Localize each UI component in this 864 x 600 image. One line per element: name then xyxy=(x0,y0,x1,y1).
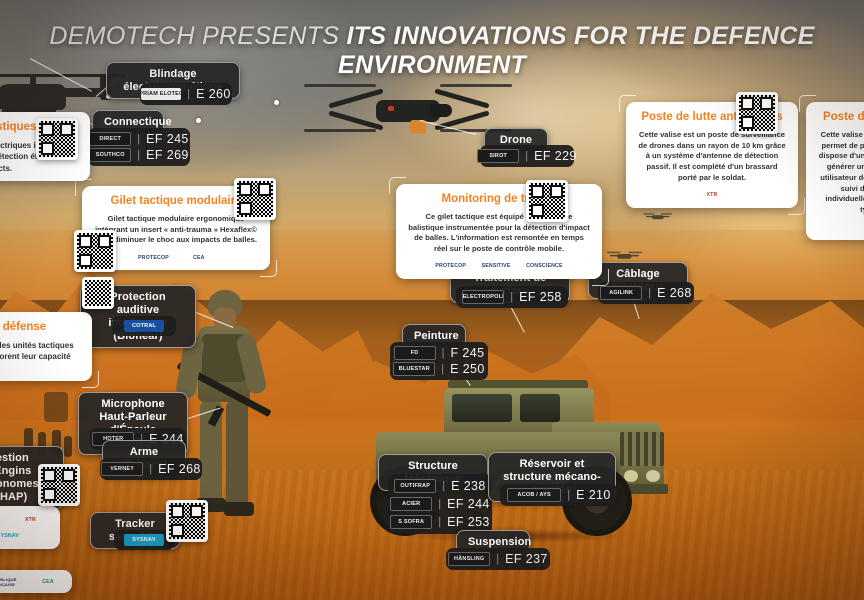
partner-logo: RÉPUBLIQUE FRANÇAISE xyxy=(0,576,21,587)
partner-logo: Agilink xyxy=(600,286,642,300)
separator: | xyxy=(525,150,528,162)
partner-logo: S SOFRA xyxy=(390,515,432,529)
qr-code[interactable] xyxy=(234,178,276,220)
reference-code: EF 268 xyxy=(158,462,201,476)
qr-code[interactable] xyxy=(38,464,80,506)
chip-row: FD | F 245 xyxy=(398,346,480,360)
partner-logo: priam elotec xyxy=(141,88,181,100)
separator: | xyxy=(441,363,444,375)
partner-logo: VERNEY xyxy=(101,462,143,476)
chip-row: SIROT | EF 229 xyxy=(488,149,566,163)
separator: | xyxy=(567,489,570,501)
partner-logo: bpi xyxy=(0,514,4,525)
chip-drone[interactable]: SIROT | EF 229 xyxy=(480,145,574,167)
card-innovations-defense[interactable]: Innovations défense L'IoT et l'IA pour l… xyxy=(0,312,92,381)
reference-code: EF 269 xyxy=(146,148,189,162)
reference-code: E 268 xyxy=(657,286,692,300)
footer-logos: RÉPUBLIQUE FRANÇAISE CEA xyxy=(0,576,66,587)
chip-connectique[interactable]: DIRECT | EF 245 SOUTHCO | EF 269 xyxy=(88,128,190,166)
reference-code: E 260 xyxy=(196,87,231,101)
infographic-poster: DEMOTECH PRESENTS ITS INNOVATIONS FOR TH… xyxy=(0,0,864,600)
chip-row: S SOFRA | EF 253 xyxy=(396,515,484,529)
qr-code[interactable] xyxy=(74,230,116,272)
partner-logo: HÄNSLING xyxy=(448,552,490,566)
chip-protection-auditive[interactable]: Cotral xyxy=(112,316,176,336)
separator: | xyxy=(137,149,140,161)
chip-traitement-surface[interactable]: electropoli | EF 258 xyxy=(456,286,568,308)
separator: | xyxy=(442,347,445,359)
chip-row: VERNEY | EF 268 xyxy=(108,462,194,476)
partner-logo: FD xyxy=(394,346,436,360)
chip-row: SOUTHCO | EF 269 xyxy=(96,148,182,162)
footer-partner-strip-1: bpi XTR sysnav xyxy=(0,506,60,549)
reference-code: EF 245 xyxy=(146,132,189,146)
corner-bracket-tl xyxy=(619,95,636,112)
reference-code: E 250 xyxy=(450,362,485,376)
chip-cablage[interactable]: Agilink | E 268 xyxy=(598,282,694,304)
partner-logo: CEA xyxy=(30,576,66,587)
qr-code[interactable] xyxy=(736,92,778,134)
chip-row: priam elotec | E 260 xyxy=(148,87,224,101)
card-monitoring-troupe[interactable]: Monitoring de troupe Ce gilet tactique e… xyxy=(396,184,602,279)
partner-logo: SOUTHCO xyxy=(89,148,131,162)
chip-row: OUTIFRAP | E 238 xyxy=(396,479,484,493)
reference-code: EF 237 xyxy=(505,552,548,566)
footer-logos: sysnav xyxy=(0,530,52,541)
partner-logo: DIRECT xyxy=(89,132,131,146)
reference-code: EF 258 xyxy=(519,290,562,304)
corner-bracket-br xyxy=(592,269,609,286)
chip-row: BLUESTAR | E 250 xyxy=(398,362,480,376)
reference-code: EF 244 xyxy=(447,497,490,511)
quadcopter-drone xyxy=(318,82,498,144)
card-partner-logos: CONSCIENCE xyxy=(817,222,864,233)
partner-logo: ACOB / AYS xyxy=(507,488,561,502)
partner-logo: CONSCIENCE xyxy=(523,261,566,272)
card-partner-logos: PROTECOP CEA xyxy=(93,252,259,263)
separator: | xyxy=(187,88,190,100)
qr-code[interactable] xyxy=(82,277,114,309)
reference-code: EF 253 xyxy=(447,515,490,529)
chip-row: sysnav xyxy=(122,534,166,546)
partner-logo: PROTECOP xyxy=(432,261,469,272)
chip-peinture[interactable]: FD | F 245 BLUESTAR | E 250 xyxy=(390,342,488,380)
chip-row: HÄNSLING | EF 237 xyxy=(454,552,542,566)
partner-logo: SENSITIVE xyxy=(478,261,514,272)
partner-logo: ACIER xyxy=(390,497,432,511)
reference-code: E 238 xyxy=(451,479,486,493)
chip-row: DIRECT | EF 245 xyxy=(96,132,182,146)
partner-logo: electropoli xyxy=(462,290,504,304)
chip-row: ACOB / AYS | E 210 xyxy=(508,488,610,502)
reference-code: EF 229 xyxy=(534,149,577,163)
partner-logo: PROTECOP xyxy=(135,252,172,263)
chip-arme[interactable]: VERNEY | EF 268 xyxy=(100,458,202,480)
separator: | xyxy=(510,291,513,303)
partner-logo: SIROT xyxy=(477,149,519,163)
chip-suspension[interactable]: HÄNSLING | EF 237 xyxy=(446,548,550,570)
corner-bracket-br xyxy=(788,198,805,215)
partner-logo: OUTIFRAP xyxy=(394,479,436,493)
chip-row: Cotral xyxy=(120,320,168,332)
distant-soldier-4 xyxy=(64,436,72,457)
card-body: Cette valise est un poste de surveillanc… xyxy=(637,130,787,184)
partner-logo: BLUESTAR xyxy=(393,362,435,376)
separator: | xyxy=(648,287,651,299)
corner-bracket-tl xyxy=(75,179,92,196)
chip-row: Agilink | E 268 xyxy=(606,286,686,300)
corner-bracket-tl xyxy=(799,95,816,112)
card-partner-logos: XTR xyxy=(637,190,787,201)
corner-bracket-br xyxy=(260,260,277,277)
chip-blindage[interactable]: priam elotec | E 260 xyxy=(140,83,232,105)
separator: | xyxy=(496,553,499,565)
distant-structure xyxy=(44,392,68,422)
separator: | xyxy=(438,498,441,510)
partner-logo: XTR xyxy=(13,514,49,525)
card-body: L'IoT et l'IA pour les unités tactiques … xyxy=(0,340,81,374)
qr-code[interactable] xyxy=(36,118,78,160)
reference-code: F 245 xyxy=(450,346,484,360)
connector-dot xyxy=(274,100,279,105)
partner-logo: CEA xyxy=(181,252,217,263)
partner-logo: sysnav xyxy=(124,534,164,546)
card-poste-controle-mobile[interactable]: Poste de Contrôle Mobile Cette valise es… xyxy=(806,102,864,240)
corner-bracket-br xyxy=(82,371,99,388)
footer-logos: bpi XTR xyxy=(0,514,52,525)
footer-partner-strip-2: RÉPUBLIQUE FRANÇAISE CEA xyxy=(0,570,72,593)
chip-row: electropoli | EF 258 xyxy=(464,290,560,304)
separator: | xyxy=(442,480,445,492)
separator: | xyxy=(137,133,140,145)
card-title: Poste de Contrôle Mobile xyxy=(817,111,864,125)
partner-logo: sysnav xyxy=(0,530,26,541)
connector-dot xyxy=(196,118,201,123)
qr-code[interactable] xyxy=(166,500,208,542)
card-partner-logos: PROTECOP SENSITIVE CONSCIENCE xyxy=(407,261,591,272)
chip-structure-mecanique[interactable]: OUTIFRAP | E 238 ACIER | EF 244 S SOFRA … xyxy=(388,474,492,534)
partner-logo: Cotral xyxy=(124,320,164,332)
separator: | xyxy=(438,516,441,528)
chip-row: ACIER | EF 244 xyxy=(396,497,484,511)
corner-bracket-tl xyxy=(389,177,406,194)
separator: | xyxy=(149,463,152,475)
chip-reservoir[interactable]: ACOB / AYS | E 210 xyxy=(500,484,618,506)
partner-logo: XTR xyxy=(694,190,730,201)
qr-code[interactable] xyxy=(526,180,568,222)
chip-tracker[interactable]: sysnav xyxy=(114,530,174,550)
reference-code: E 210 xyxy=(576,488,611,502)
card-body: Cette valise est autonome en énergie et … xyxy=(817,130,864,216)
card-title: Innovations défense xyxy=(0,321,81,335)
